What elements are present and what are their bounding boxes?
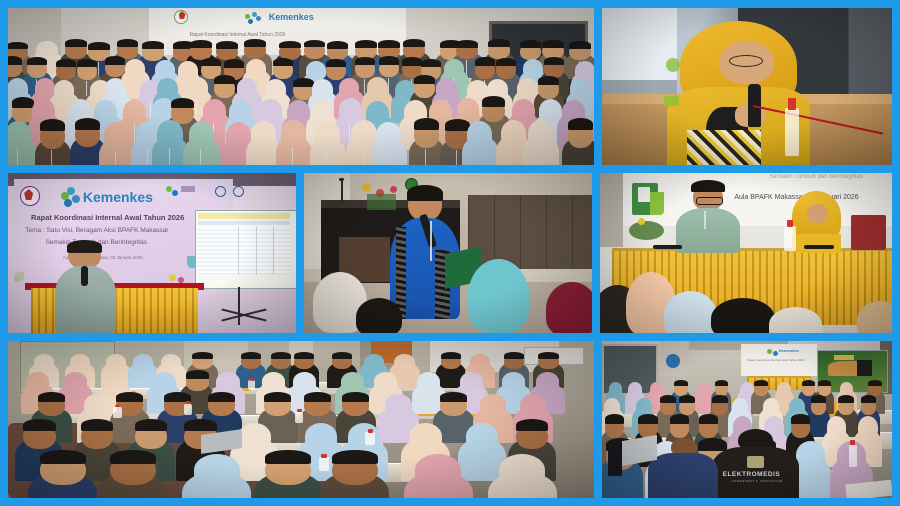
- panel-head-table: Aula BPAFK Makassar, 02 Januari 2026 Sem…: [600, 173, 892, 333]
- tshirt-subtext: COMPETENT & INNOVATIVE: [731, 479, 782, 483]
- panel-presenter-stage: Kemenkes Rapat Koordinasi Internal Awal …: [8, 173, 296, 333]
- far-banner-logo-text: Kemenkes: [779, 348, 799, 353]
- banner-theme-tail: Semakin Tumbuh dan Berintegritas: [769, 174, 863, 180]
- panel-audience-back: Kemenkes Rapat Koordinasi Internal Awal …: [602, 341, 892, 498]
- photo-collage: Kemenkes Rapat Koordinasi Internal Awal …: [0, 0, 900, 506]
- elektromedis-participant: ELEKTROMEDIS COMPETENT & INNOVATIVE: [712, 429, 799, 498]
- panel-group-photo: Kemenkes Rapat Koordinasi Internal Awal …: [8, 8, 594, 165]
- panel-participant-question: [304, 173, 592, 333]
- banner-theme-line-1: Tema : Satu Visi, Beragam Aksi BPAFK Mak…: [25, 227, 168, 234]
- banner-title-stage: Rapat Koordinasi Internal Awal Tahun 202…: [31, 213, 184, 222]
- tshirt-brand-text: ELEKTROMEDIS: [723, 471, 781, 478]
- panel-speaker-yellow: [602, 8, 892, 165]
- banner-kemenkes-logo-text: Kemenkes: [269, 12, 314, 22]
- banner-title-group: Rapat Koordinasi Internal Awal Tahun 202…: [190, 32, 286, 38]
- banner-kemenkes-logo-text-2: Kemenkes: [83, 189, 153, 205]
- panel-audience-wide: [8, 341, 594, 498]
- far-banner-title: Rapat Koordinasi Internal Awal Tahun 202…: [747, 358, 804, 362]
